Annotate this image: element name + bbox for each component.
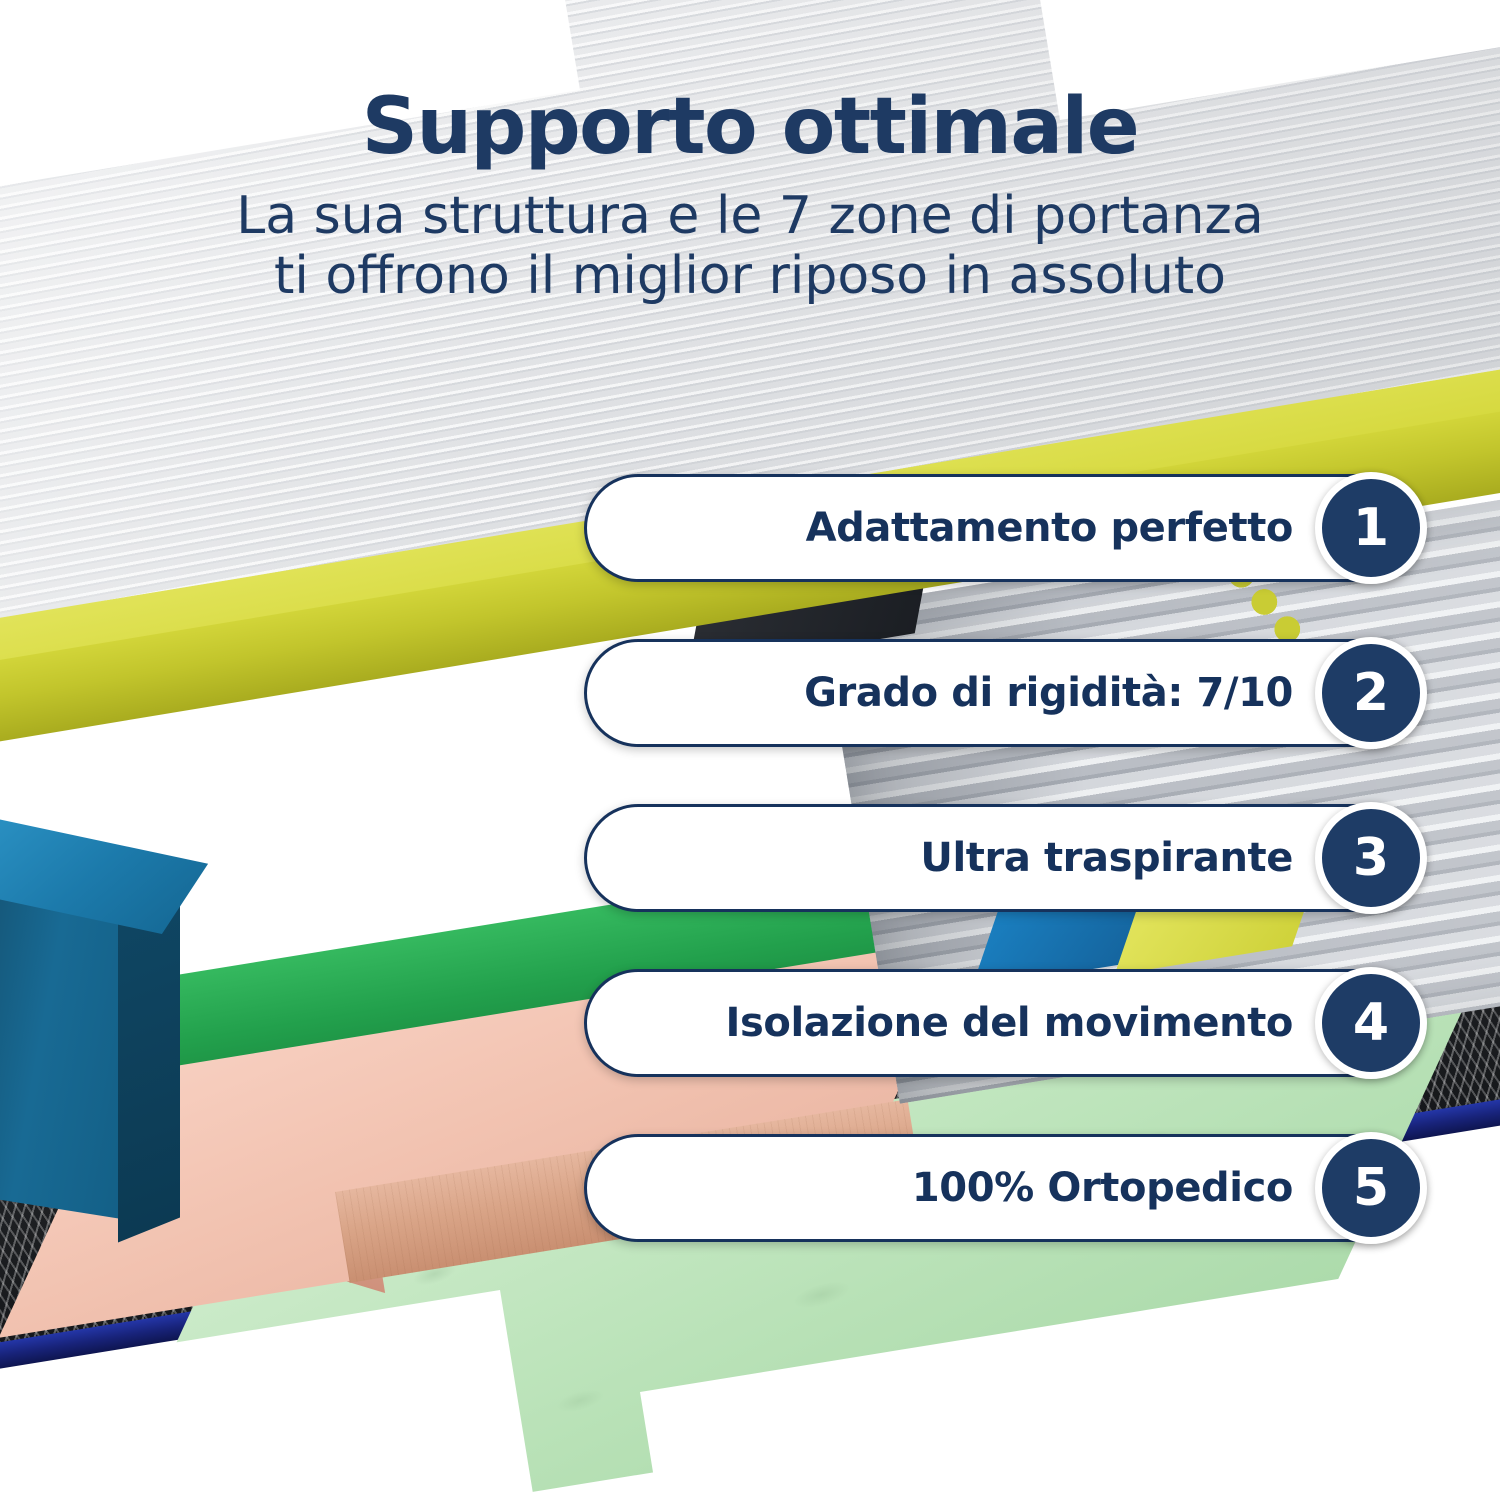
feature-number-circle-4: 4 [1315, 967, 1427, 1079]
feature-badge-3[interactable]: Ultra traspirante 3 [584, 804, 1424, 912]
feature-number-circle-3: 3 [1315, 802, 1427, 914]
feature-badge-5[interactable]: 100% Ortopedico 5 [584, 1134, 1424, 1242]
header-block: Supporto ottimale La sua struttura e le … [0, 0, 1500, 307]
feature-number-4: 4 [1353, 997, 1389, 1049]
infographic-canvas: Supporto ottimale La sua struttura e le … [0, 0, 1500, 1500]
feature-number-3: 3 [1353, 832, 1389, 884]
feature-badge-4[interactable]: Isolazione del movimento 4 [584, 969, 1424, 1077]
page-subtitle: La sua struttura e le 7 zone di portanza… [0, 166, 1500, 307]
feature-number-circle-1: 1 [1315, 472, 1427, 584]
feature-label-5: 100% Ortopedico [912, 1165, 1293, 1211]
feature-label-4: Isolazione del movimento [725, 1000, 1293, 1046]
feature-badge-1[interactable]: Adattamento perfetto 1 [584, 474, 1424, 582]
feature-label-3: Ultra traspirante [920, 835, 1293, 881]
feature-number-5: 5 [1353, 1162, 1389, 1214]
feature-label-1: Adattamento perfetto [806, 505, 1293, 551]
feature-badge-2[interactable]: Grado di rigidità: 7/10 2 [584, 639, 1424, 747]
subtitle-line-2: ti offrono il miglior riposo in assoluto [0, 246, 1500, 306]
page-title: Supporto ottimale [0, 0, 1500, 166]
feature-number-2: 2 [1353, 667, 1389, 719]
subtitle-line-1: La sua struttura e le 7 zone di portanza [0, 186, 1500, 246]
blue-edge-support-side [118, 887, 180, 1242]
feature-number-1: 1 [1353, 502, 1389, 554]
feature-number-circle-5: 5 [1315, 1132, 1427, 1244]
feature-label-2: Grado di rigidità: 7/10 [804, 670, 1293, 716]
feature-badge-list: Adattamento perfetto 1 Grado di rigidità… [584, 474, 1424, 1242]
feature-number-circle-2: 2 [1315, 637, 1427, 749]
